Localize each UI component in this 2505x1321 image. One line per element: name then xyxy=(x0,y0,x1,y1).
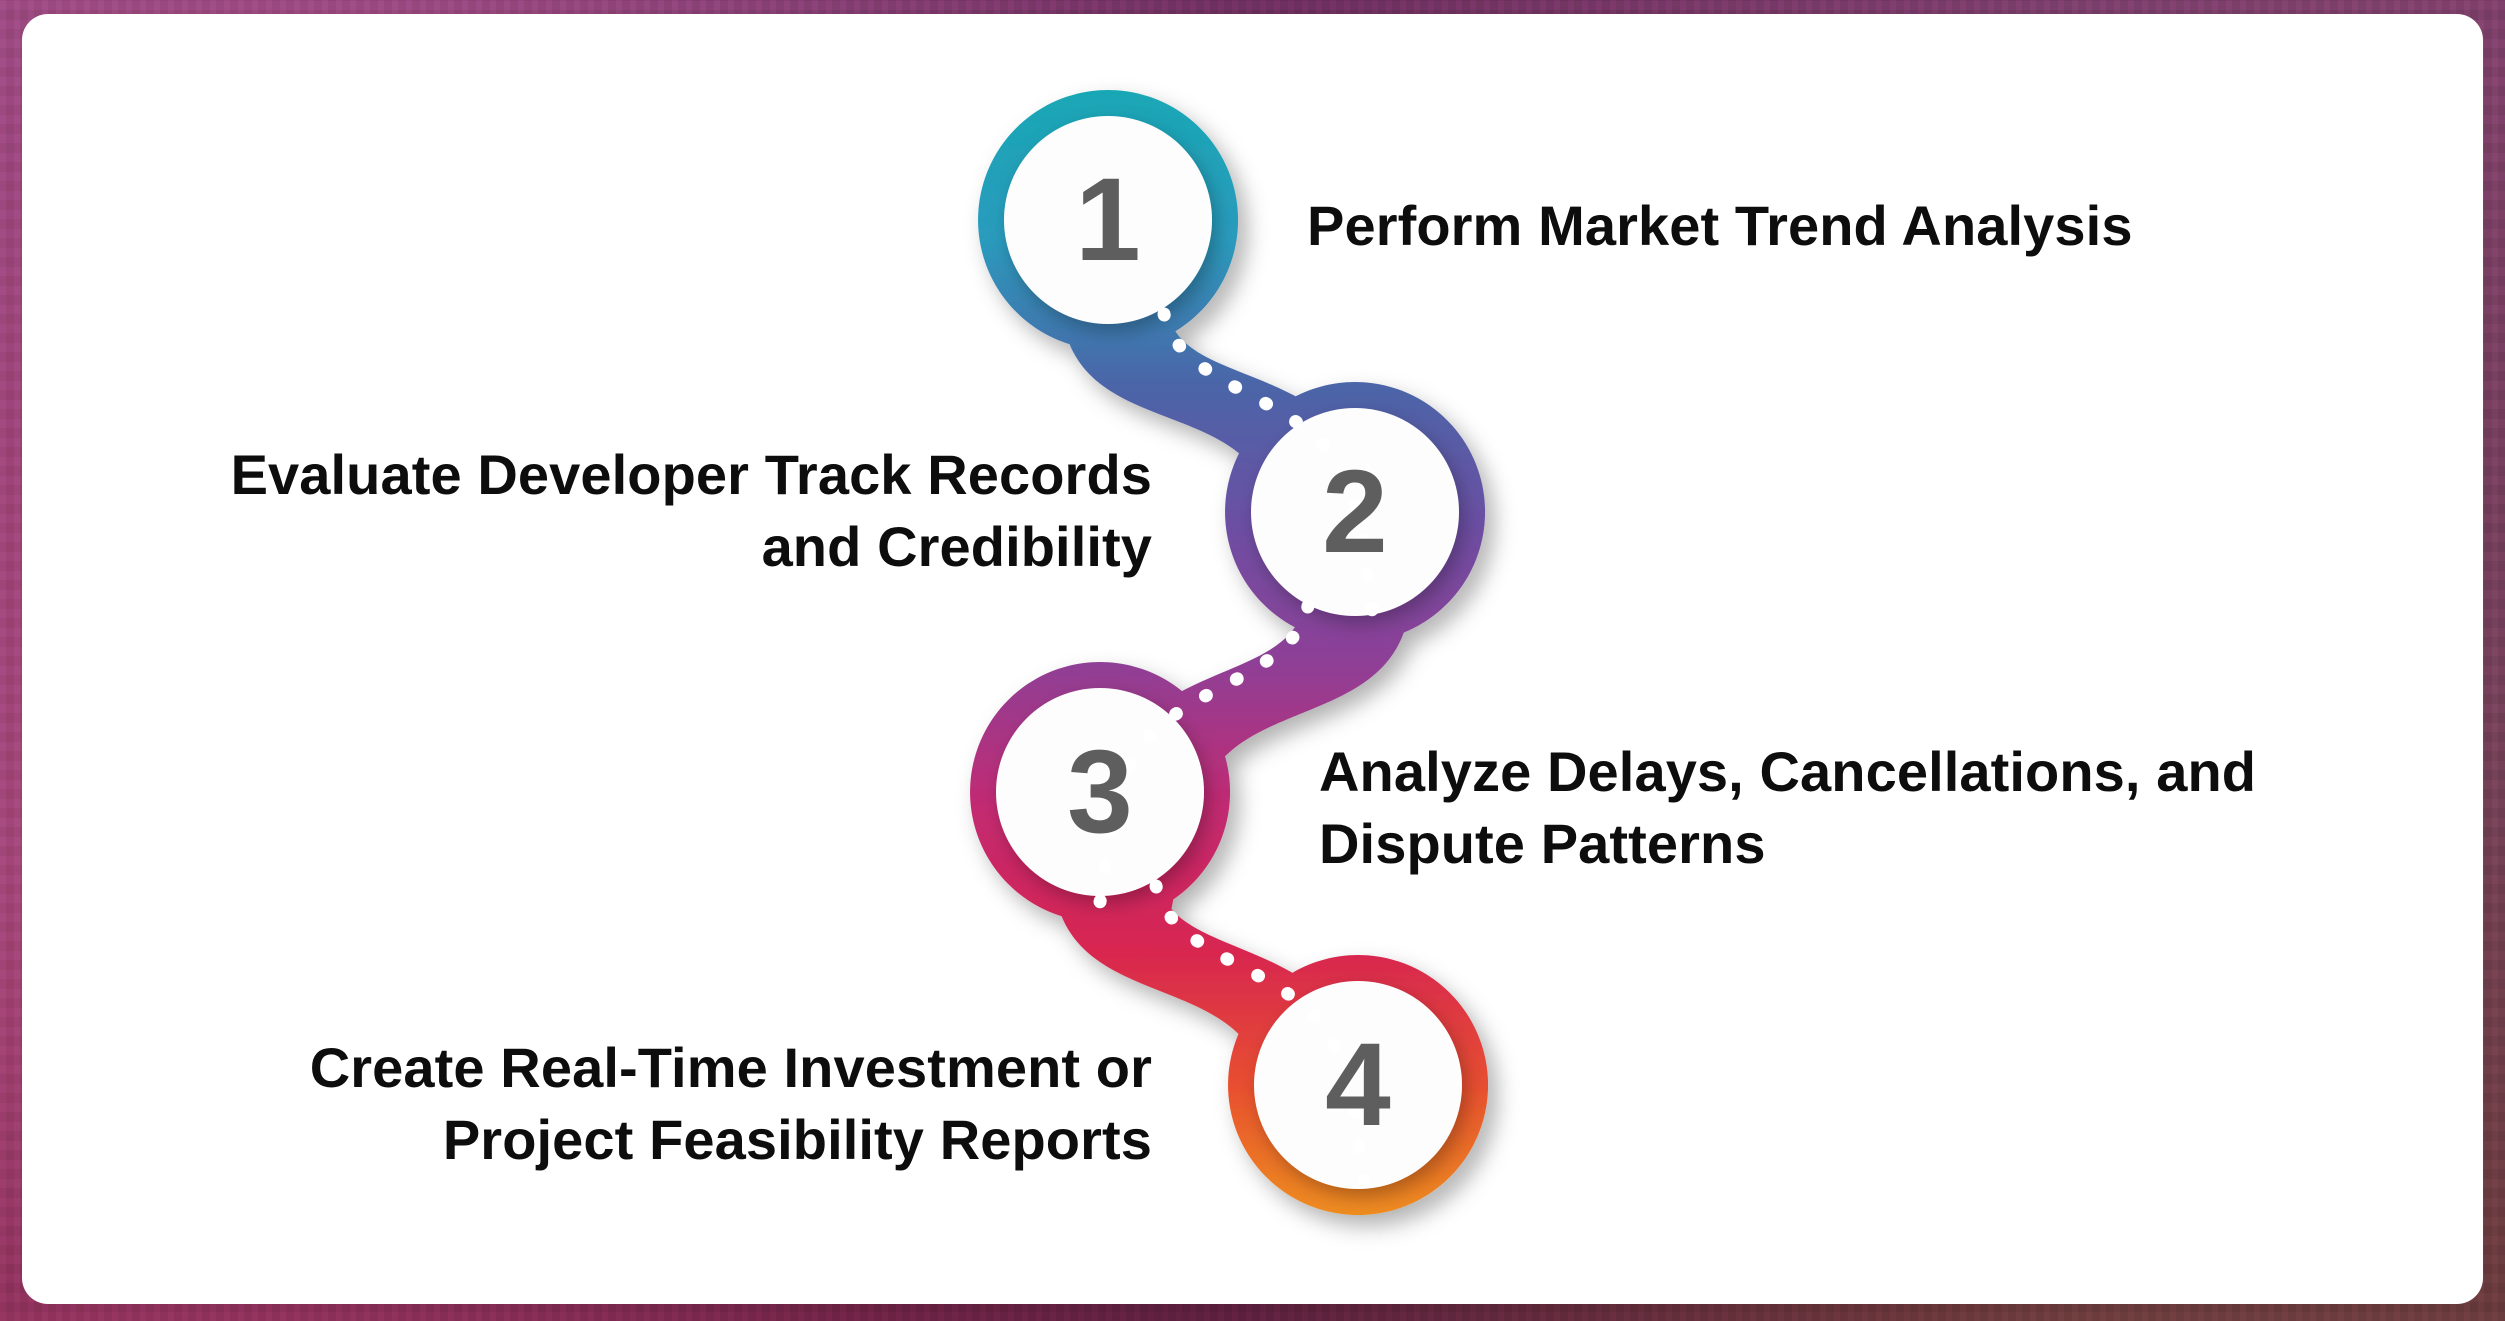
step-number-1: 1 xyxy=(1075,161,1141,279)
step-label-1: Perform Market Trend Analysis xyxy=(1307,190,2367,262)
step-label-2: Evaluate Developer Track Records and Cre… xyxy=(132,439,1152,582)
infographic-card: 1 2 3 4 Perform Market Trend Analysis Ev… xyxy=(22,14,2483,1304)
step-number-4: 4 xyxy=(1325,1026,1391,1144)
step-number-3: 3 xyxy=(1067,733,1133,851)
step-label-3: Analyze Delays, Cancellations, and Dispu… xyxy=(1319,736,2399,879)
process-flow-stage: 1 2 3 4 Perform Market Trend Analysis Ev… xyxy=(22,14,2483,1304)
step-number-2: 2 xyxy=(1322,453,1388,571)
step-label-4: Create Real-Time Investment or Project F… xyxy=(172,1032,1152,1175)
